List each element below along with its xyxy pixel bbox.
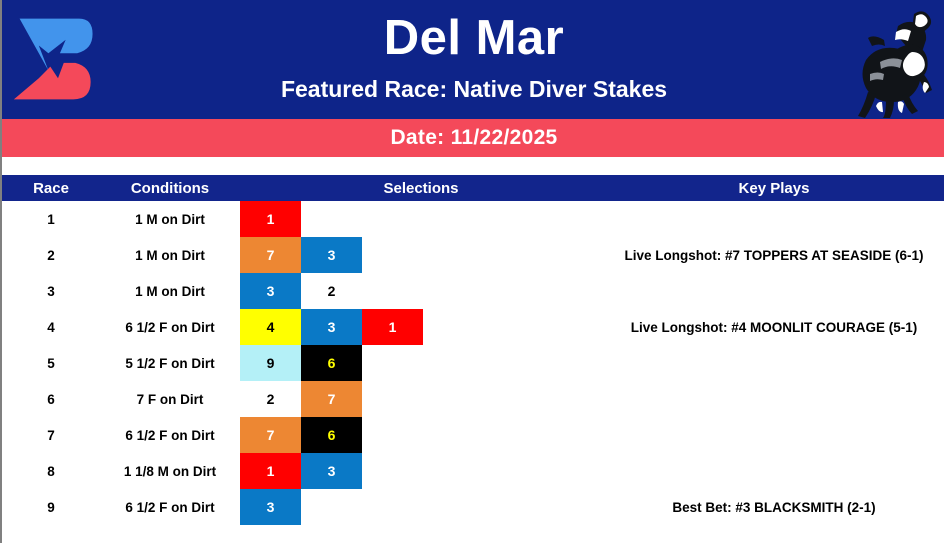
- key-plays-cell: [602, 201, 944, 237]
- selections-cell: 96: [240, 345, 602, 381]
- selections-cell: 32: [240, 273, 602, 309]
- table-row: 11 M on Dirt1: [2, 201, 944, 237]
- selection-swatch-strip: 1: [240, 201, 602, 237]
- selection-swatch[interactable]: 1: [362, 309, 423, 345]
- selection-swatch[interactable]: 3: [301, 237, 362, 273]
- selection-swatch[interactable]: 6: [301, 417, 362, 453]
- selections-cell: 431: [240, 309, 602, 345]
- selection-swatch[interactable]: 7: [240, 237, 301, 273]
- selection-swatch[interactable]: 2: [240, 381, 301, 417]
- table-body: 11 M on Dirt121 M on Dirt73Live Longshot…: [2, 201, 944, 525]
- selections-cell: 27: [240, 381, 602, 417]
- race-number-cell: 9: [2, 489, 100, 525]
- table-row: 46 1/2 F on Dirt431Live Longshot: #4 MOO…: [2, 309, 944, 345]
- race-conditions-cell: 6 1/2 F on Dirt: [100, 417, 240, 453]
- selections-cell: 76: [240, 417, 602, 453]
- selection-swatch[interactable]: 6: [301, 345, 362, 381]
- racehorse-jockey-photo-icon: [840, 0, 944, 119]
- race-card-table: Race Conditions Selections Key Plays 11 …: [2, 175, 944, 525]
- column-header-selections: Selections: [240, 175, 602, 201]
- key-plays-cell: [602, 345, 944, 381]
- race-number-cell: 8: [2, 453, 100, 489]
- race-number-cell: 6: [2, 381, 100, 417]
- race-conditions-cell: 1 M on Dirt: [100, 237, 240, 273]
- race-number-cell: 5: [2, 345, 100, 381]
- race-conditions-cell: 6 1/2 F on Dirt: [100, 489, 240, 525]
- selection-swatch[interactable]: 3: [240, 489, 301, 525]
- table-row: 76 1/2 F on Dirt76: [2, 417, 944, 453]
- selection-swatch-strip: 13: [240, 453, 602, 489]
- selections-cell: 73: [240, 237, 602, 273]
- selection-swatch[interactable]: 3: [240, 273, 301, 309]
- race-conditions-cell: 1 1/8 M on Dirt: [100, 453, 240, 489]
- band-spacer: [2, 157, 944, 175]
- race-card-page: Del Mar Featured Race: Native Diver Stak…: [0, 0, 944, 543]
- selection-swatch-strip: 3: [240, 489, 602, 525]
- selections-cell: 13: [240, 453, 602, 489]
- column-header-conditions: Conditions: [100, 175, 240, 201]
- selection-swatch[interactable]: 9: [240, 345, 301, 381]
- race-conditions-cell: 6 1/2 F on Dirt: [100, 309, 240, 345]
- race-conditions-cell: 1 M on Dirt: [100, 273, 240, 309]
- column-header-key-plays: Key Plays: [602, 175, 944, 201]
- featured-race-subtitle: Featured Race: Native Diver Stakes: [2, 67, 944, 103]
- selection-swatch[interactable]: 7: [240, 417, 301, 453]
- selection-swatch[interactable]: 7: [301, 381, 362, 417]
- selection-swatch[interactable]: 1: [240, 201, 301, 237]
- race-conditions-cell: 7 F on Dirt: [100, 381, 240, 417]
- selection-swatch[interactable]: 3: [301, 309, 362, 345]
- table-header-row: Race Conditions Selections Key Plays: [2, 175, 944, 201]
- race-conditions-cell: 5 1/2 F on Dirt: [100, 345, 240, 381]
- column-header-race: Race: [2, 175, 100, 201]
- table-header: Race Conditions Selections Key Plays: [2, 175, 944, 201]
- race-date: Date: 11/22/2025: [390, 126, 557, 150]
- selections-cell: 3: [240, 489, 602, 525]
- key-plays-cell: [602, 273, 944, 309]
- selection-swatch[interactable]: 2: [301, 273, 362, 309]
- selection-swatch-strip: 73: [240, 237, 602, 273]
- table-row: 31 M on Dirt32: [2, 273, 944, 309]
- selection-swatch-strip: 27: [240, 381, 602, 417]
- race-number-cell: 2: [2, 237, 100, 273]
- race-conditions-cell: 1 M on Dirt: [100, 201, 240, 237]
- key-plays-cell: Live Longshot: #4 MOONLIT COURAGE (5-1): [602, 309, 944, 345]
- selection-swatch[interactable]: 1: [240, 453, 301, 489]
- race-number-cell: 3: [2, 273, 100, 309]
- key-plays-cell: [602, 417, 944, 453]
- selection-swatch[interactable]: 4: [240, 309, 301, 345]
- masthead: Del Mar Featured Race: Native Diver Stak…: [2, 0, 944, 119]
- selections-cell: 1: [240, 201, 602, 237]
- table-row: 96 1/2 F on Dirt3Best Bet: #3 BLACKSMITH…: [2, 489, 944, 525]
- table-row: 55 1/2 F on Dirt96: [2, 345, 944, 381]
- selection-swatch[interactable]: 3: [301, 453, 362, 489]
- selection-swatch-strip: 431: [240, 309, 602, 345]
- table-row: 67 F on Dirt27: [2, 381, 944, 417]
- key-plays-cell: [602, 453, 944, 489]
- selection-swatch-strip: 76: [240, 417, 602, 453]
- key-plays-cell: Best Bet: #3 BLACKSMITH (2-1): [602, 489, 944, 525]
- key-plays-cell: [602, 381, 944, 417]
- table-row: 21 M on Dirt73Live Longshot: #7 TOPPERS …: [2, 237, 944, 273]
- masthead-titles: Del Mar Featured Race: Native Diver Stak…: [2, 0, 944, 103]
- race-number-cell: 1: [2, 201, 100, 237]
- selection-swatch-strip: 32: [240, 273, 602, 309]
- key-plays-cell: Live Longshot: #7 TOPPERS AT SEASIDE (6-…: [602, 237, 944, 273]
- race-number-cell: 7: [2, 417, 100, 453]
- race-number-cell: 4: [2, 309, 100, 345]
- selection-swatch-strip: 96: [240, 345, 602, 381]
- page-title: Del Mar: [2, 0, 944, 67]
- table-row: 81 1/8 M on Dirt13: [2, 453, 944, 489]
- date-band: Date: 11/22/2025: [2, 119, 944, 157]
